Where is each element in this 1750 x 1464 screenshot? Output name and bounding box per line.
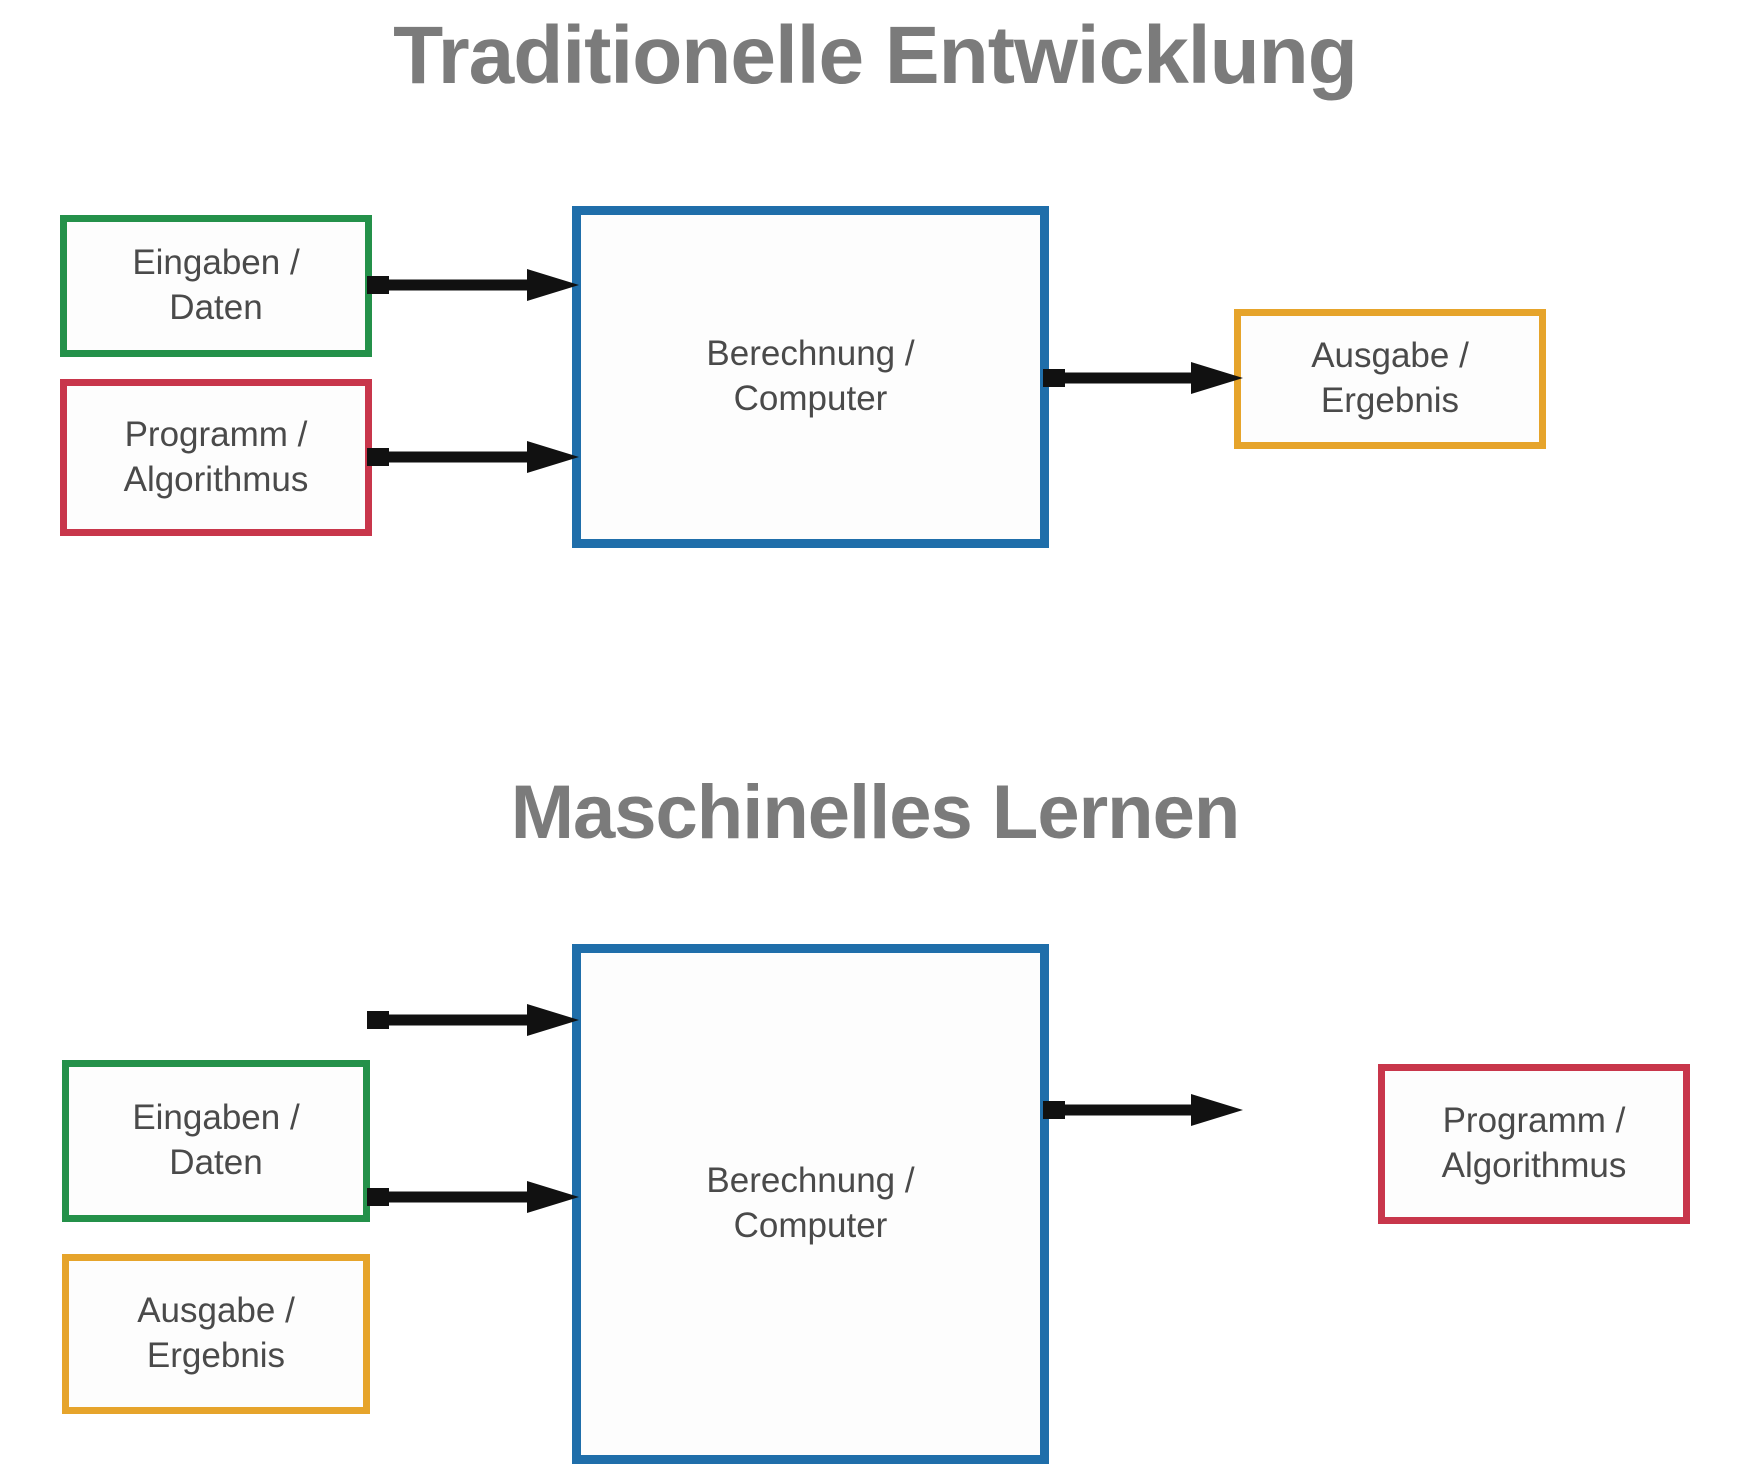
node-ml-output-label: Ausgabe / Ergebnis xyxy=(137,1289,295,1379)
arrow-compute-to-program-ml xyxy=(1043,1090,1243,1130)
node-ml-compute-label: Berechnung / Computer xyxy=(706,1159,914,1249)
section-title-traditional: Traditionelle Entwicklung xyxy=(0,8,1750,104)
arrow-program-to-compute-traditional xyxy=(367,437,579,477)
node-ml-program-label: Programm / Algorithmus xyxy=(1442,1099,1627,1189)
node-traditional-program-label: Programm / Algorithmus xyxy=(124,413,309,503)
node-ml-compute: Berechnung / Computer xyxy=(572,944,1049,1464)
node-ml-input: Eingaben / Daten xyxy=(62,1060,370,1222)
section-title-machine-learning: Maschinelles Lernen xyxy=(0,768,1750,858)
arrow-input-to-compute-ml xyxy=(367,1000,579,1040)
arrow-compute-to-output-traditional xyxy=(1043,358,1243,398)
node-traditional-input: Eingaben / Daten xyxy=(60,215,372,357)
node-traditional-compute: Berechnung / Computer xyxy=(572,206,1049,548)
node-traditional-compute-label: Berechnung / Computer xyxy=(706,332,914,422)
arrow-input-to-compute-traditional xyxy=(367,265,579,305)
node-traditional-program: Programm / Algorithmus xyxy=(60,379,372,536)
node-traditional-output: Ausgabe / Ergebnis xyxy=(1234,309,1546,449)
node-traditional-output-label: Ausgabe / Ergebnis xyxy=(1311,334,1469,424)
diagram-canvas: Traditionelle Entwicklung Eingaben / Dat… xyxy=(0,0,1750,1454)
node-ml-input-label: Eingaben / Daten xyxy=(132,1096,299,1186)
node-ml-program: Programm / Algorithmus xyxy=(1378,1064,1690,1224)
node-ml-output: Ausgabe / Ergebnis xyxy=(62,1254,370,1414)
arrow-output-to-compute-ml xyxy=(367,1177,579,1217)
node-traditional-input-label: Eingaben / Daten xyxy=(132,241,299,331)
